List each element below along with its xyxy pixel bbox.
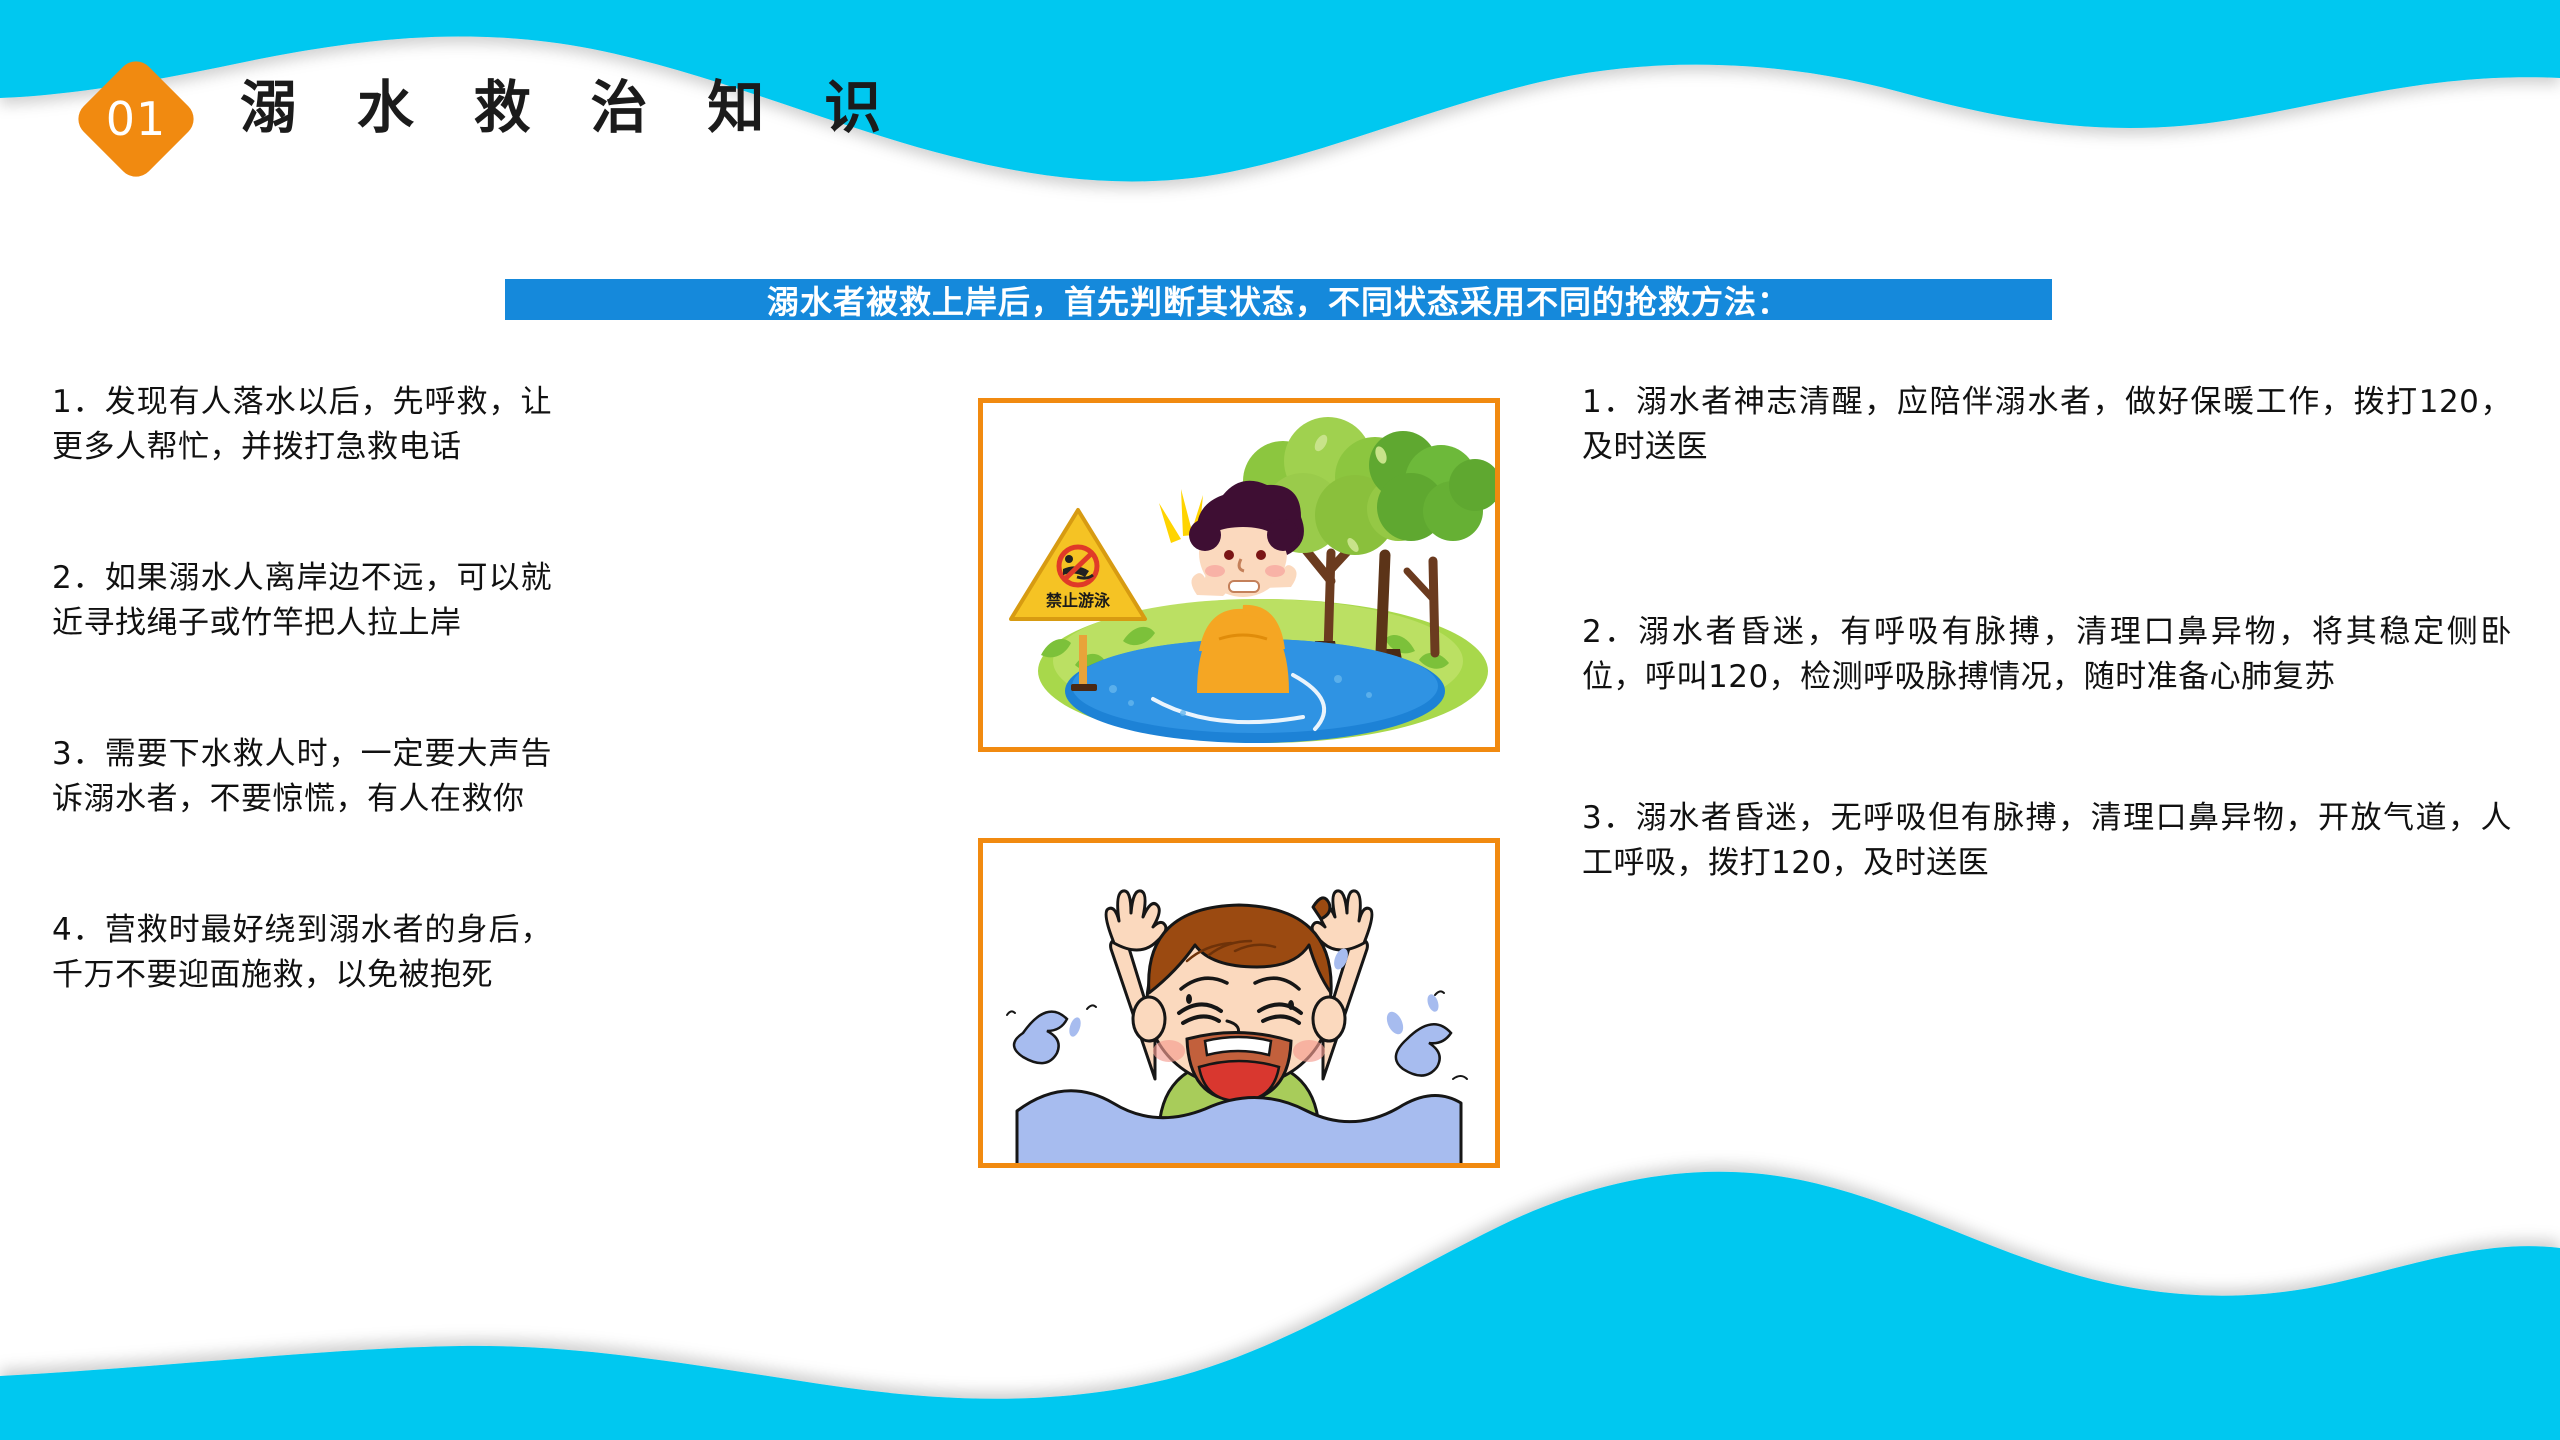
- subtitle-banner: 溺水者被救上岸后，首先判断其状态，不同状态采用不同的抢救方法：: [505, 279, 2052, 320]
- left-item-3: 3．需要下水救人时，一定要大声告诉溺水者，不要惊慌，有人在救你: [52, 732, 552, 822]
- crying-child-illustration: [983, 843, 1495, 1163]
- right-text-column: 1．溺水者神志清醒，应陪伴溺水者，做好保暖工作，拨打120，及时送医 2．溺水者…: [1582, 380, 2512, 886]
- page-title: 溺 水 救 治 知 识: [240, 62, 901, 144]
- subtitle-banner-text: 溺水者被救上岸后，首先判断其状态，不同状态采用不同的抢救方法：: [505, 277, 2052, 323]
- right-item-1: 1．溺水者神志清醒，应陪伴溺水者，做好保暖工作，拨打120，及时送医: [1582, 380, 2512, 470]
- no-swimming-sign-text: 禁止游泳: [1046, 591, 1111, 610]
- right-item-3: 3．溺水者昏迷，无呼吸但有脉搏，清理口鼻异物，开放气道，人工呼吸，拨打120，及…: [1582, 796, 2512, 886]
- section-number-badge: 01: [70, 53, 202, 185]
- figure-crying-child-in-water: [978, 838, 1500, 1168]
- left-text-column: 1．发现有人落水以后，先呼救，让更多人帮忙，并拨打急救电话 2．如果溺水人离岸边…: [52, 380, 552, 998]
- pond-drowning-illustration: 禁止游泳: [983, 403, 1495, 747]
- left-item-4: 4．营救时最好绕到溺水者的身后，千万不要迎面施救，以免被抱死: [52, 908, 552, 998]
- right-item-2: 2．溺水者昏迷，有呼吸有脉搏，清理口鼻异物，将其稳定侧卧位，呼叫120，检测呼吸…: [1582, 610, 2512, 700]
- figure-pond-drowning: 禁止游泳: [978, 398, 1500, 752]
- section-number-label: 01: [70, 53, 202, 185]
- bottom-wave-decoration: [0, 1140, 2560, 1440]
- slide-canvas: 01 溺 水 救 治 知 识 溺水者被救上岸后，首先判断其状态，不同状态采用不同…: [0, 0, 2560, 1440]
- left-item-1: 1．发现有人落水以后，先呼救，让更多人帮忙，并拨打急救电话: [52, 380, 552, 470]
- left-item-2: 2．如果溺水人离岸边不远，可以就近寻找绳子或竹竿把人拉上岸: [52, 556, 552, 646]
